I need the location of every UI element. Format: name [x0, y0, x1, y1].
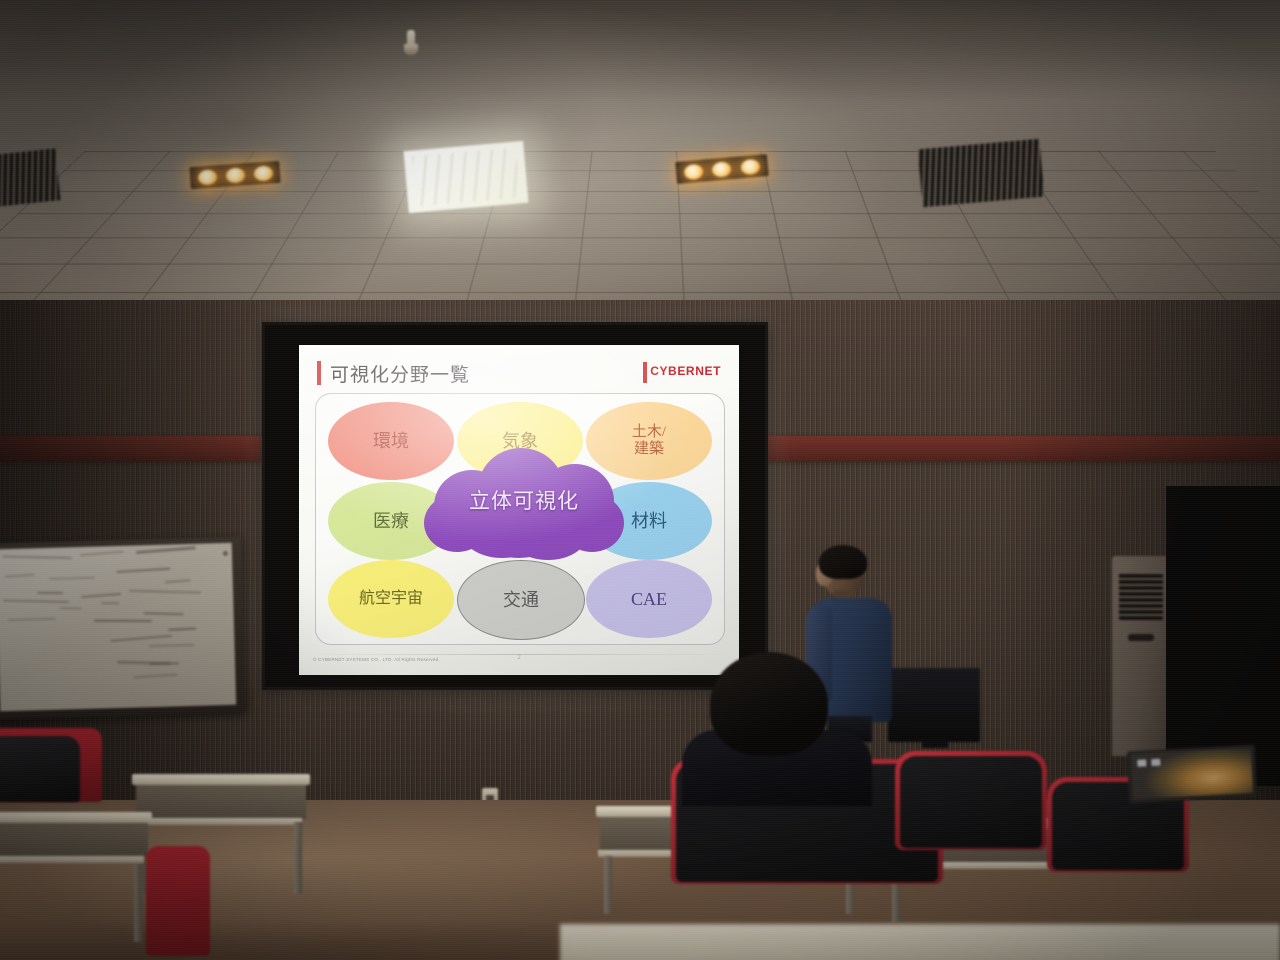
bubble-航空宇宙: 航空宇宙: [328, 560, 454, 638]
ac-vent-icon: [1119, 572, 1163, 620]
desk-left-front: [0, 812, 152, 868]
center-cloud: 立体可視化: [424, 442, 624, 558]
bubble-CAE: CAE: [586, 560, 712, 638]
bubble-label: CAE: [631, 589, 667, 610]
audience-member: [688, 652, 864, 802]
bubble-label: 交通: [503, 590, 539, 611]
presenter-hair: [819, 545, 867, 579]
ceiling-panel-light: [404, 141, 529, 213]
desktop-icon: [1151, 759, 1160, 766]
monitor-stand: [922, 738, 948, 748]
visualization-fields-diagram: 環境気象土木/ 建築医療材料航空宇宙交通CAE立体可視化: [315, 393, 725, 645]
bubble-label: 材料: [631, 511, 667, 532]
bubble-label: 環境: [373, 431, 409, 452]
presentation-slide: 可視化分野一覧 CYBERNET 環境気象土木/ 建築医療材料航空宇宙交通CAE…: [299, 345, 739, 675]
foreground-desk-edge: [560, 924, 1280, 960]
air-conditioner-unit: [1112, 556, 1174, 756]
sprinkler-head-icon: [404, 30, 418, 56]
bubble-label: 土木/ 建築: [632, 424, 666, 459]
lamp-icon: [712, 161, 732, 178]
lamp-icon: [225, 167, 245, 183]
ac-control-panel: [1128, 634, 1154, 641]
chair-right-1: [900, 756, 1042, 848]
audience-head: [710, 652, 828, 756]
lamp-icon: [197, 169, 217, 185]
ceiling-vent-grille-left: [0, 148, 61, 207]
copyright-text: © CYBERNET SYSTEMS CO., LTD. All Rights …: [313, 657, 440, 662]
bubble-label: 航空宇宙: [359, 590, 423, 608]
whiteboard-surface: [0, 543, 236, 712]
bubble-交通: 交通: [457, 560, 585, 640]
desk-left-back: [132, 774, 310, 826]
lamp-icon: [740, 158, 760, 175]
slide-footer: © CYBERNET SYSTEMS CO., LTD. All Rights …: [313, 655, 725, 669]
lamp-icon: [253, 165, 273, 181]
slide-header: 可視化分野一覧 CYBERNET: [317, 359, 725, 387]
ceiling-vent-grille-right: [918, 139, 1045, 207]
whiteboard-glare: [0, 543, 236, 712]
logo-accent-bar: [643, 362, 647, 383]
page-number: 2: [517, 655, 520, 661]
laptop-screen: [1131, 748, 1253, 799]
center-cloud-label: 立体可視化: [469, 485, 579, 515]
laptop: [1127, 745, 1258, 804]
whiteboard: [0, 537, 246, 720]
chair-left-red-front: [146, 846, 210, 956]
slide-title: 可視化分野一覧: [330, 360, 470, 387]
projector-screen: 可視化分野一覧 CYBERNET 環境気象土木/ 建築医療材料航空宇宙交通CAE…: [262, 322, 768, 690]
cybernet-logo: CYBERNET: [650, 364, 721, 378]
lamp-icon: [683, 163, 703, 180]
title-accent-bar: [317, 361, 321, 385]
bubble-label: 医療: [373, 511, 409, 532]
wall-dark-panel: [1166, 486, 1280, 786]
classroom-photo: 可視化分野一覧 CYBERNET 環境気象土木/ 建築医療材料航空宇宙交通CAE…: [0, 0, 1280, 960]
chair-left-seat: [0, 736, 80, 802]
desktop-icon: [1137, 759, 1146, 766]
wall-monitor: [888, 668, 980, 742]
